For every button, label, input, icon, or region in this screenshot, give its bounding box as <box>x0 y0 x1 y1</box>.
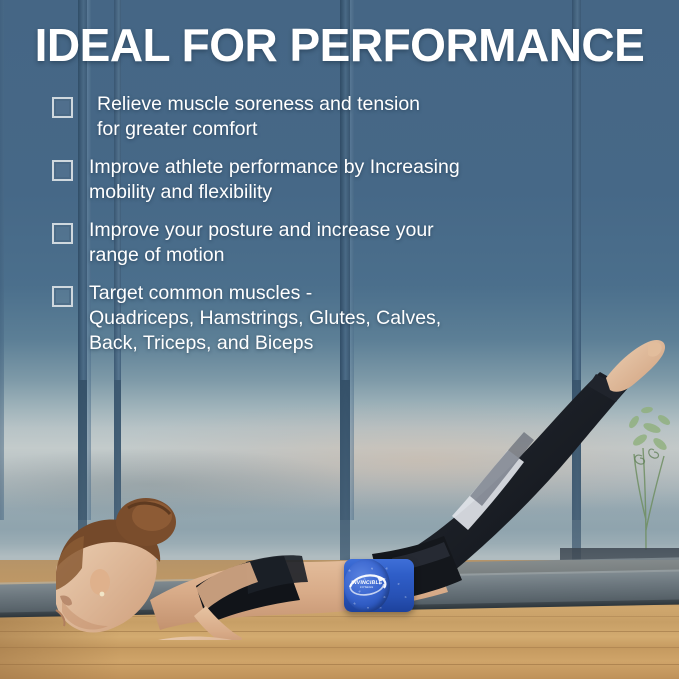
foam-roller: INVINCIBLE FITNESS <box>344 559 390 612</box>
roller-logo-subtext: FITNESS <box>360 587 373 590</box>
checkbox-square-icon <box>52 286 73 307</box>
page-title: IDEAL FOR PERFORMANCE <box>0 18 679 72</box>
list-item-label: Improve athlete performance by Increasin… <box>89 155 460 205</box>
benefits-list: Relieve muscle soreness and tension for … <box>52 92 652 369</box>
ear <box>90 569 110 595</box>
list-item-label: Target common muscles - Quadriceps, Hams… <box>89 281 441 356</box>
list-item: Relieve muscle soreness and tension for … <box>52 92 652 142</box>
list-item-label: Relieve muscle soreness and tension for … <box>97 92 420 142</box>
product-feature-image: INVINCIBLE FITNESS IDEAL FOR PERFORMANCE… <box>0 0 679 679</box>
list-item: Improve your posture and increase your r… <box>52 218 652 268</box>
list-item: Improve athlete performance by Increasin… <box>52 155 652 205</box>
checkbox-square-icon <box>52 223 73 244</box>
list-item: Target common muscles - Quadriceps, Hams… <box>52 281 652 356</box>
checkbox-square-icon <box>52 97 73 118</box>
checkbox-square-icon <box>52 160 73 181</box>
list-item-label: Improve your posture and increase your r… <box>89 218 434 268</box>
roller-logo: INVINCIBLE FITNESS <box>344 559 390 612</box>
